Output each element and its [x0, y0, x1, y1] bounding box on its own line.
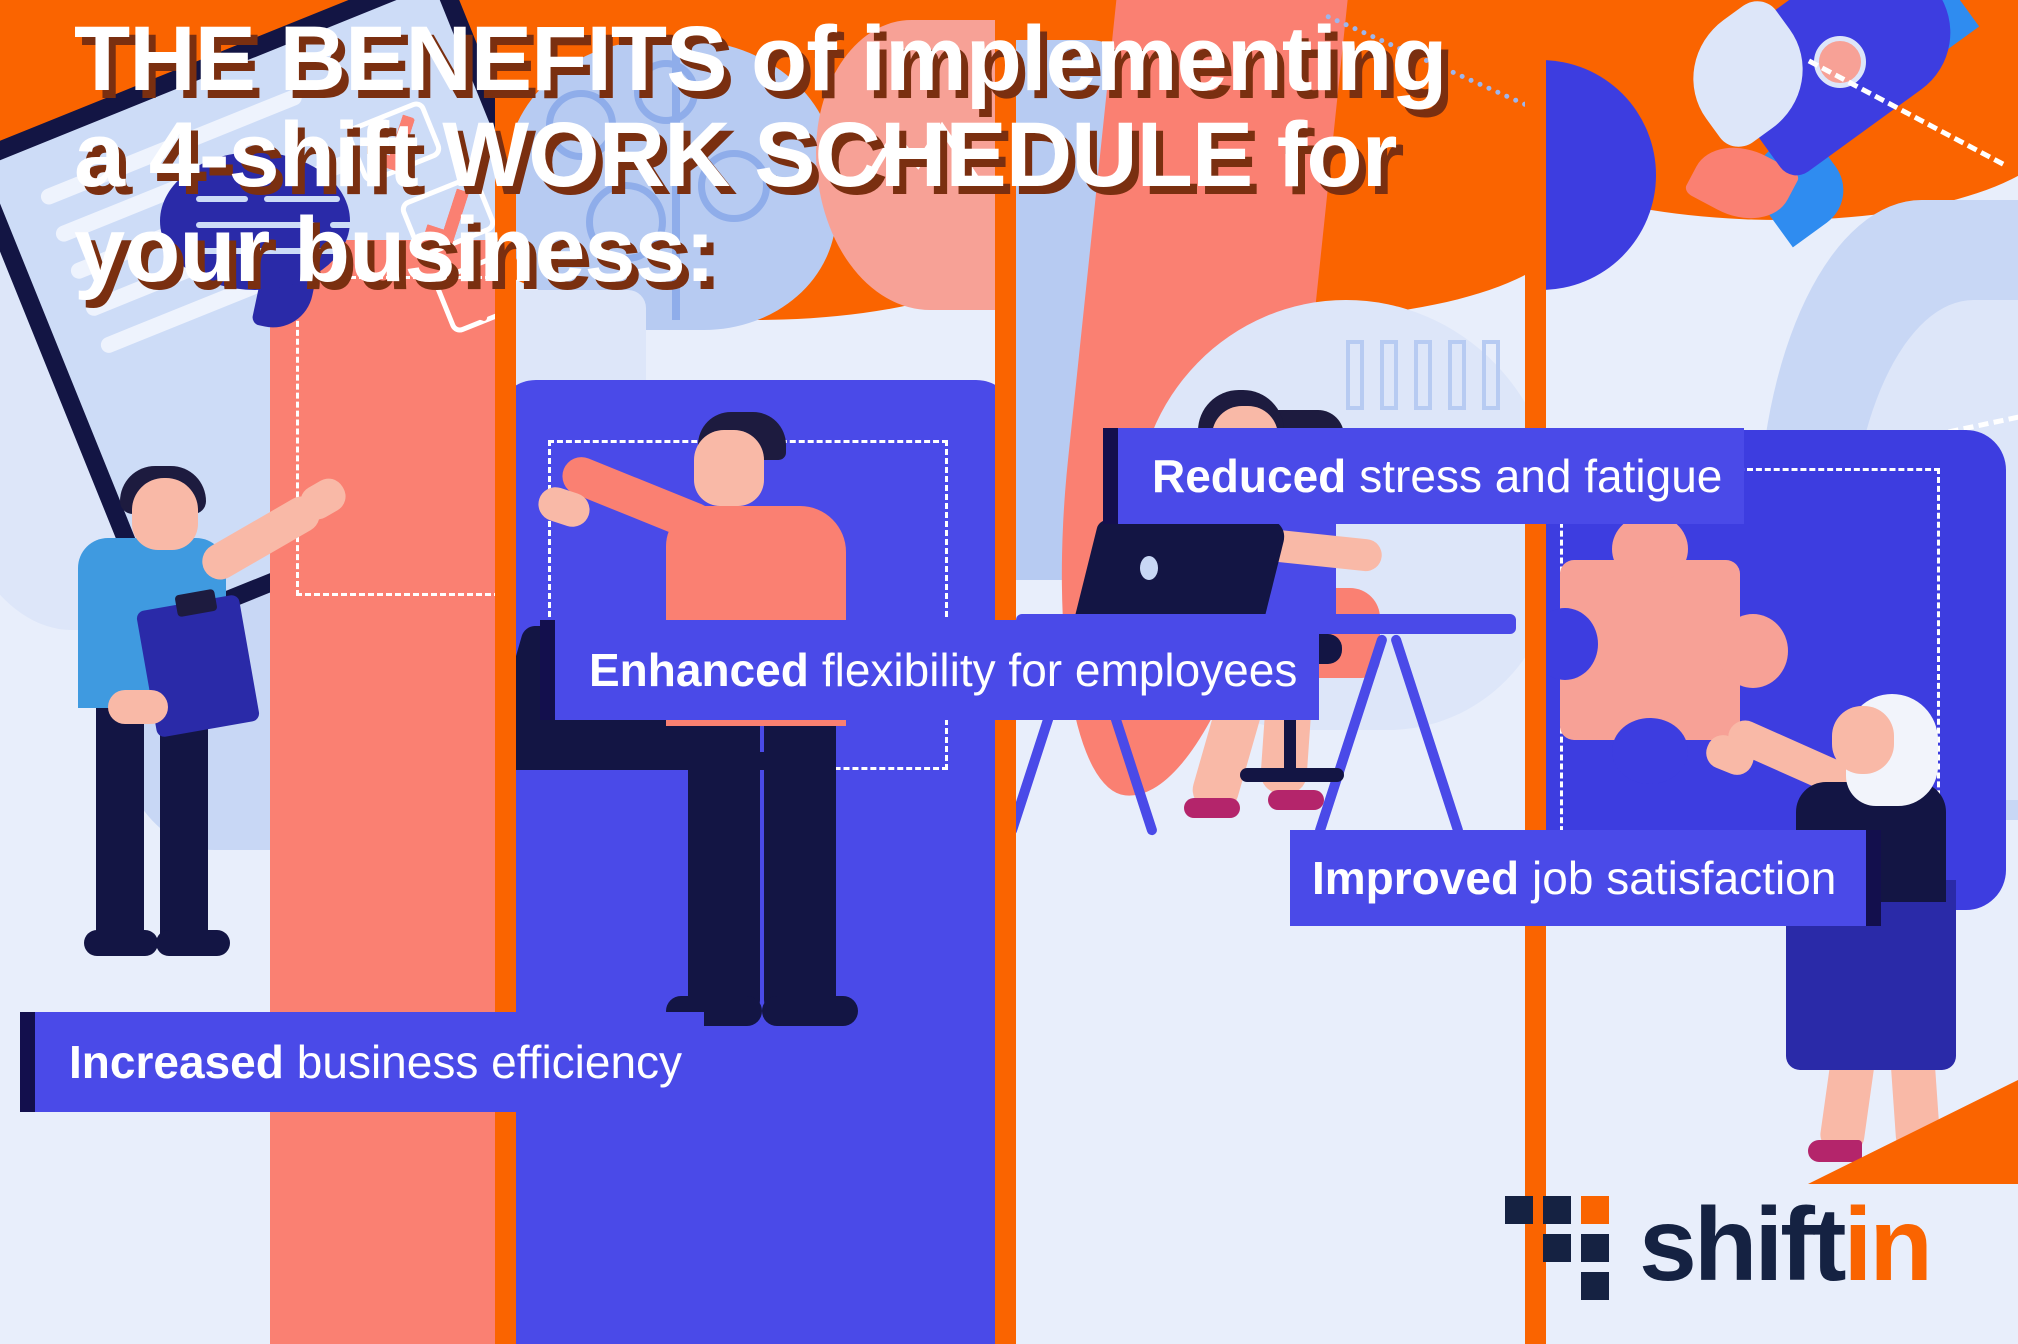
shiftin-logo: shiftin [1505, 1196, 1930, 1296]
shoe [1184, 798, 1240, 818]
shoe [1808, 1140, 1862, 1162]
headline-strong-2: WORK SCHEDULE [442, 104, 1252, 206]
logo-word-dark: shift [1639, 1187, 1844, 1303]
infographic-poster: THE BENEFITS of implementing a 4-shift W… [0, 0, 2018, 1344]
hand [108, 690, 168, 724]
logo-word-accent: in [1844, 1187, 1930, 1303]
benefit-rest: stress and fatigue [1359, 453, 1722, 499]
laptop-logo [1140, 556, 1158, 580]
head [694, 430, 764, 506]
benefit-rest: business efficiency [297, 1039, 682, 1085]
leg [764, 726, 836, 1016]
benefit-lead: Reduced [1152, 453, 1346, 499]
benefit-lead: Improved [1312, 855, 1519, 901]
benefit-increased-efficiency: Increasedbusiness efficiency [20, 1012, 704, 1112]
shoe [156, 930, 230, 956]
leg [688, 726, 760, 1016]
headline-rest-2: a 4-shift [74, 104, 442, 206]
headline-line-3: your business: [74, 203, 1446, 299]
leg [96, 700, 144, 950]
head [132, 478, 198, 550]
benefit-lead: Increased [69, 1039, 284, 1085]
headline-rest-1: of implementing [726, 8, 1446, 110]
headline-tail-2: for [1252, 104, 1396, 206]
benefit-reduced-stress: Reducedstress and fatigue [1103, 428, 1744, 524]
shoe [762, 996, 858, 1026]
shoe [84, 930, 158, 956]
page-title: THE BENEFITS of implementing a 4-shift W… [74, 12, 1446, 299]
panel-divider [1525, 0, 1546, 1344]
leg [160, 700, 208, 950]
benefit-enhanced-flexibility: Enhancedflexibility for employees [540, 620, 1319, 720]
benefit-rest: job satisfaction [1532, 855, 1836, 901]
puzzle-knob [1718, 614, 1788, 688]
headline-strong-1: THE BENEFITS [74, 8, 726, 110]
logo-grid-icon [1505, 1196, 1605, 1296]
logo-wordmark: shiftin [1639, 1199, 1930, 1293]
panel-puzzle [1546, 0, 2018, 1344]
head [1832, 706, 1894, 774]
stool-base [1240, 768, 1344, 782]
benefit-lead: Enhanced [589, 647, 809, 693]
puzzle-notch [1612, 718, 1688, 784]
puzzle-knob [1612, 514, 1688, 584]
benefit-rest: flexibility for employees [822, 647, 1298, 693]
shoe [1268, 790, 1324, 810]
benefit-improved-satisfaction: Improvedjob satisfaction [1290, 830, 1881, 926]
headline-line-2: a 4-shift WORK SCHEDULE for [74, 108, 1446, 204]
laptop [1073, 520, 1289, 624]
headline-line-1: THE BENEFITS of implementing [74, 12, 1446, 108]
